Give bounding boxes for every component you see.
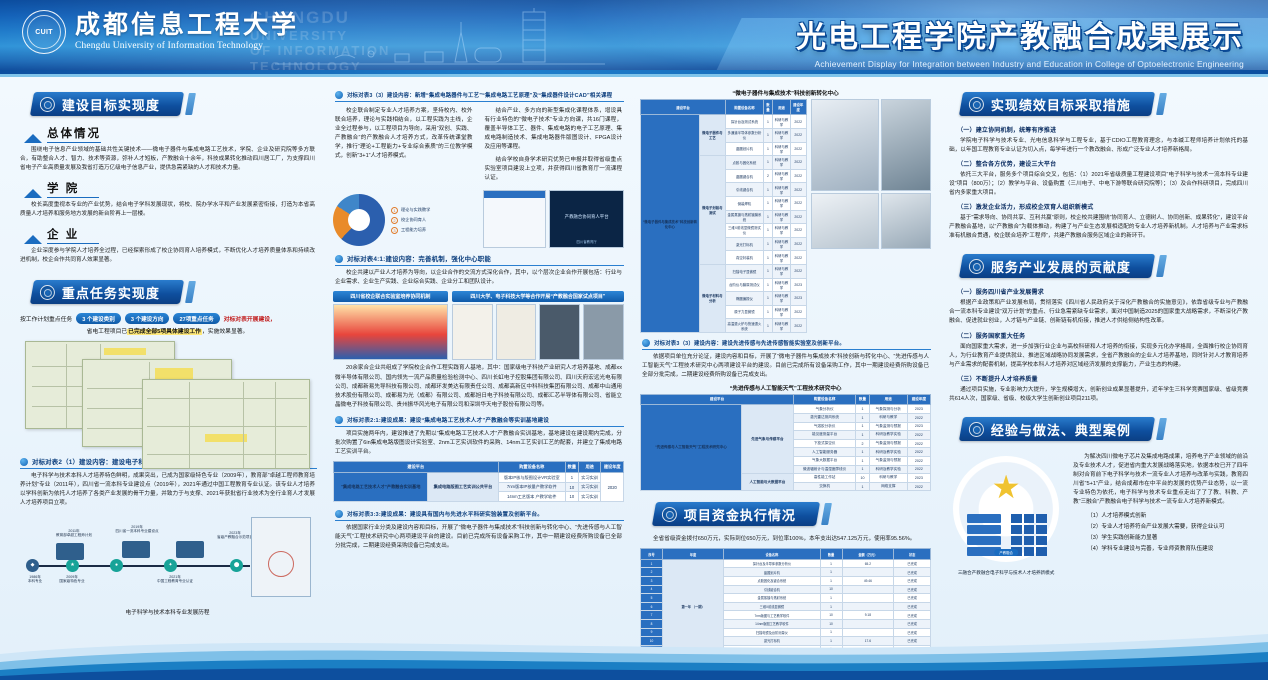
th-use: 用途 (578, 461, 601, 472)
table-cell: 1 (763, 196, 772, 210)
photo-equipment-robot (881, 99, 931, 191)
table-cell: 气象分析仪 (794, 405, 856, 414)
table-cell: 科研与教学 (773, 237, 791, 251)
table-cell: 气象监测与预报 (869, 439, 907, 448)
skyline-icon (275, 8, 605, 70)
mindmap-number-icon: 2 (391, 217, 398, 224)
bullet-heading-label: 对标对表4:1:建设内容：完善机制，强化中心职能 (347, 254, 491, 263)
table-cell (842, 585, 894, 594)
table-cell: 49.46 (842, 576, 894, 585)
table-cell: 已完成 (894, 568, 931, 577)
table-cell: 已完成 (894, 585, 931, 594)
timeline-badge-2 (122, 541, 150, 558)
table-cell: 下投式探空仪 (794, 439, 856, 448)
th-qty: 数量 (763, 100, 772, 115)
contribution-3-text: 通过项目实施，专业影响力大提升，学生规模增大，创新创业成果显著提升，近年学生三科… (949, 386, 1248, 404)
bullet-dot-icon (335, 255, 343, 263)
timeline-caption-2: 2009年国家级特色专业 (52, 575, 92, 584)
table-cell: 1 (763, 292, 772, 306)
table-cell: 实习实训 (578, 473, 601, 483)
mindmap: 1理论与实践教学 2校企协同育人 3工程能力培养 (391, 204, 475, 237)
measure-1-title: （一）建立协同机制，统筹有序推进 (957, 125, 1250, 134)
table-cell (842, 568, 894, 577)
sheet-3 (142, 379, 310, 469)
banner-slash-decoration (185, 281, 196, 303)
mindmap-text: 校企协同育人 (401, 217, 426, 223)
section-banner-measures: 实现绩效目标采取措施 (961, 91, 1250, 117)
table-cell: 2022 (790, 128, 806, 142)
th-use: 用途 (773, 100, 791, 115)
task-pill-row: 按工作计划重点任务 3 个建设类别 3 个建设方向 27项重点任务 对标对表开展… (20, 313, 317, 324)
contribution-1-text: 根据产业政策和产业发展布局，贯彻落实《四川省人民政府关于深化产教融合的实施意见》… (949, 299, 1248, 326)
case-list-item: （4）学科专业建设与完善，专业师资教育队伍建设 (1087, 544, 1250, 552)
table-header-row: 建设平台 购置设备名称 数量 用途 建设年度 (333, 461, 623, 472)
th-platform: 建设平台 (641, 100, 726, 115)
th-qty: 数量 (856, 395, 870, 405)
table-cell: 1 (763, 224, 772, 238)
table-cell: 2022 (790, 224, 806, 238)
th-amount: 金额（万元） (842, 549, 894, 559)
table-cell: 1 (763, 305, 772, 319)
table-cell: 2022 (907, 482, 930, 491)
cell-group: 微电子材料与分析 (699, 264, 725, 332)
banner-label: 服务产业发展的贡献度 (991, 257, 1131, 276)
th-index: 序号 (641, 549, 663, 559)
table-cell: 实习实训 (578, 492, 601, 502)
table-body: “先进传感与人工智能天气”工程技术研究中心先进气象与传感平台气象分析仪1气象探测… (641, 405, 931, 491)
table-cell: 2022 (790, 251, 806, 265)
document-sheets-graphic (20, 339, 315, 451)
table-row: “微电子器件与集成技术”科技创新转化中心微电子器件与工艺探针台及测试系统1科研与… (641, 115, 807, 129)
column-2: 对标对表3（3）建设内容：新增“集成电路器件与工艺”“集成电路工艺原理”及“集成… (325, 85, 632, 637)
table-cell: 已完成 (894, 576, 931, 585)
table-cell: 台阶仪与膜厚测试仪 (726, 278, 764, 292)
bullet-heading-research-platform: 对标对表3:3:建设成果：建设具有国内与先进水平科研实验装置及创新平台。 (335, 510, 624, 521)
table-cell: 1 (856, 482, 870, 491)
timeline-label-5: 中国工程教育专业认证 (157, 579, 193, 583)
section-banner-experience: 经验与做法、典型案例 (961, 416, 1250, 442)
th-use: 用途 (869, 395, 907, 405)
table-cell: 2022 (907, 439, 930, 448)
table-cell: 2 (856, 439, 870, 448)
table-cell: 高温退火炉与快速退火系统 (726, 319, 764, 333)
bullet-heading-mechanism: 对标对表4:1:建设内容：完善机制，强化中心职能 (335, 254, 624, 266)
footer-wave-decoration (0, 610, 1268, 680)
mindmap-number-icon: 1 (391, 207, 398, 214)
bullet-dot-icon (335, 416, 343, 424)
table-cell: 科研与教学 (773, 169, 791, 183)
bullet-dot-icon (642, 339, 650, 347)
table-cell: 5 (641, 594, 663, 603)
table-cell: 2022 (790, 156, 806, 170)
case-list-item: （2）专业人才培养符合产业发展大需要，获得企业认可 (1087, 522, 1250, 530)
table-cell: 引线键合机 (726, 183, 764, 197)
page-subtitle: Achievement Display for Integration betw… (796, 59, 1244, 69)
paragraph-research-platform: 依据国家行业分类及建设内容和目标，开展了“微电子器件与集成技术”科技创新与转化中… (335, 524, 622, 551)
table-cell: 科研与教学 (773, 224, 791, 238)
banner-label: 实现绩效目标采取措施 (991, 95, 1131, 114)
table-cell: 已完成 (894, 594, 931, 603)
triangle-icon (24, 189, 42, 198)
table-body: “微电子器件与集成技术”科技创新转化中心微电子器件与工艺探针台及测试系统1科研与… (641, 115, 807, 333)
banner-label: 重点任务实现度 (62, 283, 160, 302)
mindmap-branch: 2校企协同育人 (391, 217, 475, 224)
table-cell: 科研与教学 (773, 115, 791, 129)
table-cell: 1 (763, 128, 772, 142)
task-summary-line: 省电工程项目已已完成全部5项具体建设工作，实施效果显著。 (18, 326, 317, 335)
timeline-node-4: ✦ (164, 559, 177, 572)
table-cell: 2022 (790, 183, 806, 197)
table-header-row: 序号 年度 设备名称 数量 金额（万元） 状态 (641, 549, 931, 559)
cell-group: 人工智能与大数据平台 (741, 474, 793, 491)
columns-container: 建设目标实现度 总体情况 围绕电子信息产业领域的基础共性关键技术——微电子器件与… (0, 77, 1268, 637)
table-cell: 科研与教学 (869, 413, 907, 422)
case-list-item: （1）人才培养模式创新 (1087, 511, 1250, 519)
table-cell: 科研与教学 (773, 196, 791, 210)
timeline-caption-4: 2019年四川省一流本科专业建设点 (114, 525, 160, 534)
th-platform: 建设平台 (641, 395, 794, 405)
photo-meeting (539, 304, 580, 360)
table-cell: 网络支撑 (869, 482, 907, 491)
table-cell: 科研及教学实验 (869, 448, 907, 457)
subheading-label: 学 院 (47, 180, 99, 198)
paragraph-training-plan: 校企联合制定专业人才培养方案，坚持校内、校外联合培养，理论与实践相结合，以工程实… (335, 107, 473, 161)
table-cell: 真空封装机 (726, 251, 764, 265)
section-banner-key-tasks: 重点任务实现度 (32, 279, 317, 305)
table-cell: 气象大数据平台 (794, 456, 856, 465)
subheading-label: 总体情况 (47, 125, 101, 143)
mindmap-number-icon: 3 (391, 227, 398, 234)
table-cell: 三维X射线显微镜测试仪 (726, 224, 764, 238)
photo-strip (452, 304, 624, 360)
table-cell: 10 (820, 585, 842, 594)
triangle-icon (24, 134, 42, 143)
table-cell: 探针台及测试系统 (726, 115, 764, 129)
column-3: “微电子器件与集成技术”科技创新转化中心 建设平台 购置设备名称 数量 用途 建… (632, 85, 939, 637)
table-cell: 晶圆键合机 (726, 169, 764, 183)
table-cell: 1 (565, 473, 578, 483)
table-cell: 2023 (907, 405, 930, 414)
table-row: 1第一年 （一期）探针台及半导体参数分析仪165.2已完成 (641, 559, 931, 568)
timeline-badge-1 (56, 543, 84, 560)
table-cell: 2022 (790, 196, 806, 210)
measure-2-text: 依托三大平台，服务多个项目综合交叉，包括：（1）2021年省级质量工程建设项目“… (949, 171, 1248, 198)
contribution-2-text: 面向国家重大需求，进一步加强行业企业与高校科研和人才培养的衔接，实现多元化办学格… (949, 343, 1248, 370)
banner-label: 项目资金执行情况 (684, 505, 796, 524)
table-cell: 1 (820, 576, 842, 585)
table-cell: 4 (641, 585, 663, 594)
seal-icon (268, 551, 294, 577)
table-cell: 1 (763, 237, 772, 251)
photo-equipment-printer (881, 193, 931, 249)
section-banner-construction-goal: 建设目标实现度 (32, 91, 317, 117)
table-cell: 2 (763, 169, 772, 183)
th-equipment: 购置设备名称 (498, 461, 565, 472)
case-numbered-list: （1）人才培养模式创新（2）专业人才培养符合产业发展大需要，获得企业认可（3）学… (1087, 511, 1250, 552)
mindmap-text: 理论与实践教学 (401, 207, 430, 213)
table-cell: 1 (763, 115, 772, 129)
table-cell: 微波辐射计与温湿度廓线仪 (794, 465, 856, 474)
table-cell: 原子力显微镜 (726, 305, 764, 319)
table-microelectronics: 建设平台 购置设备名称 数量 用途 建设年度 “微电子器件与集成技术”科技创新转… (640, 99, 807, 333)
table-cell: 科研与教学 (773, 305, 791, 319)
photo-equipment-probe (811, 99, 880, 191)
th-year: 建设年度 (790, 100, 806, 115)
table-cell: 金属蒸镀与溅射系统 (724, 594, 820, 603)
table-header-row: 建设平台 购置设备名称 数量 用途 建设年度 (641, 395, 931, 405)
table-cell: 科研与教学 (773, 251, 791, 265)
table-cell: 2022 (790, 264, 806, 278)
banner-emblem-icon (40, 285, 55, 300)
table-row: “先进传感与人工智能天气”工程技术研究中心先进气象与传感平台气象分析仪1气象探测… (641, 405, 931, 414)
paragraph-course-system: 结合产业、多方向的新型集成化课程体系，增设具有行业特色的“微电子技术”专业方向课… (485, 107, 623, 152)
measure-2-title: （二）整合各方优势，建设三大平台 (957, 159, 1250, 168)
section-banner-contribution: 服务产业发展的贡献度 (961, 253, 1250, 279)
bullet-heading-label: 对标对表2:1:建设成果：建设“集成电路工艺技术人才”产教融合等实训基地建设 (347, 416, 549, 424)
table-cell: 激光打标机 (726, 237, 764, 251)
table-cell: 人工智能服务器 (794, 448, 856, 457)
cell-platform: “先进传感与人工智能天气”工程技术研究中心 (641, 405, 742, 491)
table-cell: 1 (763, 210, 772, 224)
table-cell: 金属蒸镀与溅射镀膜系统 (726, 210, 764, 224)
table-cell: 10 (565, 482, 578, 492)
table-cell: 实习实训 (578, 482, 601, 492)
table1-title: “微电子器件与集成技术”科技创新转化中心 (640, 89, 931, 97)
task-pill-count: 27项重点任务 (173, 313, 219, 324)
bullet-heading-advanced-lab: 对标对表3（3）建设内容：建设先进传感与先进传感智能实验室及创新平台。 (642, 339, 931, 350)
table-cell: 1 (820, 559, 842, 568)
table-cell: 1 (763, 142, 772, 156)
timeline-node-2: ★ (66, 559, 79, 572)
table-cell: 科研与教学 (773, 292, 791, 306)
th-status: 状态 (894, 549, 931, 559)
table-cell: 气象监测与预报 (869, 456, 907, 465)
bullet-heading-label: 对标对表3（3）建设内容：建设先进传感与先进传感智能实验室及创新平台。 (654, 339, 845, 347)
caption-bar-1: 四川省校企联合实验室培养协同机制 (333, 291, 448, 302)
timeline-node-1: ◆ (26, 559, 39, 572)
page-title: 光电工程学院产教融合成果展示 (796, 12, 1244, 56)
banner-label: 经验与做法、典型案例 (991, 419, 1131, 438)
th-year: 建设年度 (907, 395, 930, 405)
subheading-overall: 总体情况 (24, 125, 317, 143)
banner-emblem-icon (969, 97, 984, 112)
timeline-badge-3 (176, 541, 204, 558)
paragraph-partners: 20余家合企业共组成了学院校企合作工程实践育人基地，其中：国家级电子科技产业研究… (335, 364, 622, 409)
table-cell: 点胶固化及键合系统 (724, 576, 820, 585)
paragraph-mechanism: 校企共建以产业人才培养为导向，以企业合作的交流方式深化合作，其中，以个层次企业合… (335, 269, 622, 287)
table-cell: 1 (856, 431, 870, 440)
table-cell: 2023 (907, 422, 930, 431)
timeline-node-3: ● (110, 559, 123, 572)
table-row: “集成电路工艺技术人才”产教融合实训基地集成电路版图工艺实训公共平台版本IP核与… (333, 473, 623, 483)
table-cell: 科研与教学 (773, 278, 791, 292)
table-cell: 1 (856, 422, 870, 431)
table-cell: 10 (565, 492, 578, 502)
table-training-base: 建设平台 购置设备名称 数量 用途 建设年度 “集成电路工艺技术人才”产教融合实… (333, 461, 624, 502)
bullet-heading-label: 对标对表3:3:建设成果：建设具有国内与先进水平科研实验装置及创新平台。 (347, 510, 543, 518)
bullet-heading-label: 对标对表3（3）建设内容：新增“集成电路器件与工艺”“集成电路工艺原理”及“集成… (347, 91, 612, 99)
bullet-dot-icon (335, 91, 343, 99)
table-cell: 科研与教学 (773, 183, 791, 197)
table-cell: 2022 (790, 319, 806, 333)
crest-icon: CUIT (22, 10, 66, 54)
table-cell: 2022 (790, 237, 806, 251)
paragraph-training-base: 项目实施两年内，建设推进了先期以“集成电路工艺技术人才”产教融合实训基地，基地建… (335, 430, 622, 457)
table-cell: 10 (856, 474, 870, 483)
task-summary-highlight: 已完成全部5项具体建设工作 (127, 329, 202, 335)
th-qty: 数量 (820, 549, 842, 559)
column-4: 实现绩效目标采取措施 （一）建立协同机制，统筹有序推进 学院电子科学与技术专业、… (939, 85, 1258, 637)
photo-equipment-chamber (811, 193, 880, 249)
table-cell: 2020 (601, 473, 624, 502)
table-cell: 高性能工作站 (794, 474, 856, 483)
table-header-row: 建设平台 购置设备名称 数量 用途 建设年度 (641, 100, 807, 115)
photo-lab (583, 304, 624, 360)
table-cell: 晶圆划片机 (724, 568, 820, 577)
table-cell (842, 594, 894, 603)
table-cell: 1 (856, 456, 870, 465)
cell-subplatform: 集成电路版图工艺实训公共平台 (428, 473, 498, 502)
timeline-caption-3: 2011年教育部卓越工程师计划 (52, 529, 96, 538)
table-cell: 已完成 (894, 559, 931, 568)
table-cell: 2022 (790, 305, 806, 319)
table-cell: 交换机 (794, 482, 856, 491)
table-cell: 1 (820, 594, 842, 603)
subheading-enterprise: 企 业 (24, 226, 317, 244)
integration-model-graphic: 产教融合 (947, 450, 1065, 568)
section-banner-funding: 项目资金执行情况 (654, 501, 931, 527)
bullet-dot-icon (335, 510, 343, 518)
table-cell: 引线键合机 (724, 585, 820, 594)
table-cell: 扫描电子显微镜 (726, 264, 764, 278)
table-cell: 2023 (790, 278, 806, 292)
column-1: 建设目标实现度 总体情况 围绕电子信息产业领域的基础共性关键技术——微电子器件与… (10, 85, 325, 637)
th-equipment: 设备名称 (724, 549, 820, 559)
triangle-icon (24, 235, 42, 244)
table-cell: 气象探测与分析 (869, 405, 907, 414)
table-cell: 2022 (907, 465, 930, 474)
th-qty: 数量 (565, 461, 578, 472)
case-list-item: （3）学生实践创新能力显著 (1087, 533, 1250, 541)
timeline-caption-1: 1986年本科专业 (18, 575, 52, 584)
photo-document (452, 304, 493, 360)
task-suffix-label: 对标对表开展建设， (224, 314, 276, 323)
table-cell: 探针台及半导体参数分析仪 (724, 559, 820, 568)
table-cell: 2023 (790, 292, 806, 306)
table-cell: 1 (856, 448, 870, 457)
table-cell: 多通道半导体参数分析仪 (726, 128, 764, 142)
table-cell: 2022 (790, 210, 806, 224)
case-text: 为解决四川微电子芯片及集成电路成果，培养电子产业领域的前沿及专业技术人才，促进省… (1073, 453, 1248, 507)
table-cell: 2 (641, 568, 663, 577)
table-cell: 1 (641, 559, 663, 568)
table-cell: 科研与教学 (773, 319, 791, 333)
table-cell: 倒装焊机 (726, 196, 764, 210)
mindmap-branch: 1理论与实践教学 (391, 207, 475, 214)
banner-emblem-icon (40, 97, 55, 112)
banner-slash-decoration (821, 503, 832, 525)
paragraph-lab-project: 结合学校自身学术研究优势已申报并取得省级重点实验室项目建设上立项，并获得四川省教… (485, 156, 623, 183)
photo-handwriting (496, 304, 537, 360)
paragraph-college: 校长高度重视本专业的产业优势，结合电子学科发展现状，将校、院办学水平和产业发展紧… (20, 201, 315, 219)
measure-3-title: （三）激发企业活力，形成校企双育人组织新模式 (957, 202, 1250, 211)
university-name-en: Chengdu University of Information Techno… (75, 41, 299, 51)
contribution-3-title: （三）不断提升人才培养质量 (957, 374, 1250, 383)
crest-label: CUIT (35, 29, 53, 36)
poster-title-block: 光电工程学院产教融合成果展示 Achievement Display for I… (796, 12, 1244, 69)
banner-emblem-icon (969, 259, 984, 274)
table-cell: 2022 (907, 456, 930, 465)
table-cell: 2023 (907, 474, 930, 483)
timeline-label-3: 教育部卓越工程师计划 (56, 533, 92, 537)
table-cell: 3 (641, 576, 663, 585)
pie-chart (333, 194, 385, 246)
course-list-image (483, 190, 547, 248)
table-cell: 椭圆偏振仪 (726, 292, 764, 306)
table-cell: 1 (763, 319, 772, 333)
table-cell: 气象监测与预报 (869, 422, 907, 431)
table-cell: 2022 (907, 413, 930, 422)
table-body: “集成电路工艺技术人才”产教融合实训基地集成电路版图工艺实训公共平台版本IP核与… (333, 473, 623, 502)
timeline-caption-5: 2021年中国工程教育专业认证 (148, 575, 202, 584)
pie-mindmap-graphic: 1理论与实践教学 2校企协同育人 3工程能力培养 (333, 194, 475, 246)
table-cell: 科研与教学 (773, 128, 791, 142)
mindmap-text: 工程能力培养 (401, 227, 426, 233)
poster-board: 建设目标实现度 总体情况 围绕电子信息产业领域的基础共性关键技术——微电子器件与… (0, 77, 1268, 680)
table-cell: 2022 (907, 448, 930, 457)
table-cell: 2022 (790, 115, 806, 129)
table-cell: 2022 (907, 431, 930, 440)
mechanism-diagram-image (333, 304, 448, 360)
table-cell: 65.2 (842, 559, 894, 568)
table-cell: 14nm工艺版本 产教学软件 (498, 492, 565, 502)
page-header: CHENGDU UNIVERSITY OF INFORMATION TECHNO… (0, 0, 1268, 70)
table-cell: 1 (763, 278, 772, 292)
graphic-bottom-label: 产教融合 (994, 549, 1018, 556)
table-cell: 1 (763, 156, 772, 170)
task-summary-b: ，实施效果显著。 (202, 329, 248, 335)
banner-slash-decoration (185, 93, 196, 115)
timeline-graphic: ◆ 1986年本科专业 ★ 2009年国家级特色专业 2011年教育部卓越工程师… (18, 513, 317, 605)
table-cell: 能见度测量平台 (794, 431, 856, 440)
table-cell: 1 (856, 405, 870, 414)
university-name-cn: 成都信息工程大学 (75, 13, 299, 39)
table-cell: 7nm版本IP核量产教学软件 (498, 482, 565, 492)
table-cell: 激光雷达测风系统 (794, 413, 856, 422)
table-cell: 科研与教学 (773, 156, 791, 170)
star-icon (993, 475, 1019, 501)
paragraph-advanced-lab: 依据项目单位充分论证，建设内容和目标，开展了“微电子器件与集成技术”科技创新与转… (642, 353, 929, 380)
banner-slash-decoration (1156, 255, 1167, 277)
contribution-2-title: （二）服务国家重大任务 (957, 331, 1250, 340)
timeline-label-4: 四川省一流本科专业建设点 (115, 529, 158, 533)
caption-bar-2: 四川大学、电子科技大学等合作开展“产教融合国家试点项目” (452, 291, 624, 302)
banner-emblem-icon (969, 421, 984, 436)
table-cell: 科研与教学 (869, 474, 907, 483)
banner-slash-decoration (1156, 93, 1167, 115)
table-cell: 气溶胶分析仪 (794, 422, 856, 431)
platform-screenshot-image: 产教融合协同育人平台 四川省教育厅 (549, 190, 624, 248)
table-cell: 1 (856, 465, 870, 474)
university-logo: CUIT 成都信息工程大学 Chengdu University of Info… (22, 10, 299, 54)
table2-title: “先进传感与人工智能天气”工程技术研究中心 (640, 384, 931, 392)
subheading-college: 学 院 (24, 180, 317, 198)
th-equipment: 购置设备名称 (726, 100, 764, 115)
cell-platform: “集成电路工艺技术人才”产教融合实训基地 (333, 473, 427, 502)
timeline-node-5: ⬤ (230, 559, 243, 572)
banner-emblem-icon (662, 507, 677, 522)
task-pill-direction: 3 个建设方向 (125, 313, 170, 324)
